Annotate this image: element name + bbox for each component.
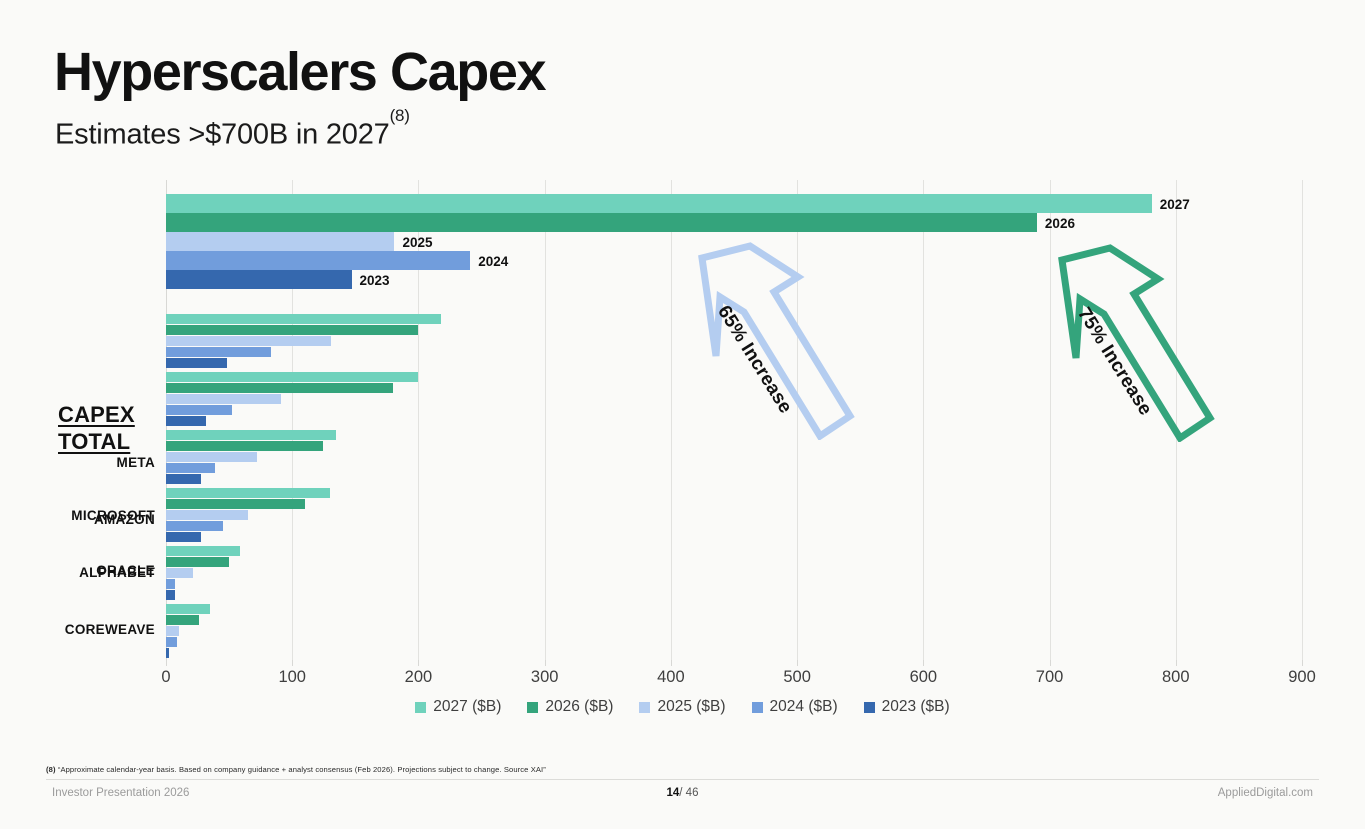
page-subtitle: Estimates >$700B in 2027(8) <box>55 118 410 152</box>
bar-slot <box>166 568 1302 578</box>
footnote-text: “Approximate calendar-year basis. Based … <box>58 765 546 774</box>
bar-alphabet-2026 <box>166 383 393 393</box>
x-tick-200 <box>418 660 419 666</box>
bar-amazon-2025 <box>166 336 331 346</box>
legend-swatch-icon <box>527 702 538 713</box>
bar-slot <box>166 604 1302 614</box>
x-tick-700 <box>1050 660 1051 666</box>
bar-oracle-2023 <box>166 590 175 600</box>
category-label-oracle: ORACLE <box>0 563 155 578</box>
footer-website: AppliedDigital.com <box>1218 787 1313 799</box>
x-tick-900 <box>1302 660 1303 666</box>
bar-slot <box>166 463 1302 473</box>
bar-oracle-2024 <box>166 579 175 589</box>
legend-item-2027[interactable]: 2027 ($B) <box>415 698 501 716</box>
bar-oracle-2027 <box>166 546 240 556</box>
bar-amazon-2023 <box>166 358 227 368</box>
x-axis: 0100200300400500600700800900 <box>166 660 1302 690</box>
capex-total-line2: TOTAL <box>58 429 135 456</box>
bar-slot <box>166 637 1302 647</box>
bar-amazon-2027 <box>166 314 441 324</box>
bar-slot <box>166 579 1302 589</box>
bar-coreweave-2025 <box>166 626 179 636</box>
x-tick-600 <box>923 660 924 666</box>
page-title: Hyperscalers Capex <box>54 44 545 101</box>
bar-slot <box>166 488 1302 498</box>
bar-slot <box>166 590 1302 600</box>
bar-slot <box>166 557 1302 567</box>
legend-item-2024[interactable]: 2024 ($B) <box>752 698 838 716</box>
bar-slot <box>166 358 1302 368</box>
bar-capex-total-2026 <box>166 213 1037 232</box>
bar-oracle-2025 <box>166 568 193 578</box>
legend-item-2023[interactable]: 2023 ($B) <box>864 698 950 716</box>
bar-microsoft-2023 <box>166 532 201 542</box>
plot-area: 20272026202520242023 <box>166 180 1302 660</box>
bar-slot <box>166 474 1302 484</box>
x-tick-label-800: 800 <box>1162 668 1190 687</box>
bar-microsoft-2027 <box>166 488 330 498</box>
gridline-900 <box>1302 180 1303 660</box>
bar-slot <box>166 270 1302 289</box>
capex-total-label: CAPEX TOTAL <box>58 402 135 456</box>
x-tick-800 <box>1176 660 1177 666</box>
bar-group-oracle <box>166 546 1302 601</box>
bar-slot <box>166 441 1302 451</box>
x-tick-300 <box>545 660 546 666</box>
bar-meta-2025 <box>166 452 257 462</box>
bar-amazon-2024 <box>166 347 271 357</box>
x-tick-label-900: 900 <box>1288 668 1316 687</box>
bar-slot <box>166 626 1302 636</box>
bar-slot <box>166 251 1302 270</box>
total-label-2027: 2027 <box>1160 197 1190 212</box>
bar-amazon-2026 <box>166 325 418 335</box>
bar-coreweave-2024 <box>166 637 177 647</box>
legend-item-2026[interactable]: 2026 ($B) <box>527 698 613 716</box>
slide-footer: Investor Presentation 2026 14/ 46 Applie… <box>0 787 1365 809</box>
bar-meta-2024 <box>166 463 215 473</box>
bar-microsoft-2025 <box>166 510 248 520</box>
bar-alphabet-2027 <box>166 372 418 382</box>
bar-capex-total-2024 <box>166 251 470 270</box>
x-tick-400 <box>671 660 672 666</box>
bar-alphabet-2024 <box>166 405 232 415</box>
bar-microsoft-2024 <box>166 521 223 531</box>
category-label-coreweave: COREWEAVE <box>0 622 155 637</box>
bar-group-capex-total <box>166 194 1302 289</box>
legend-label: 2024 ($B) <box>770 698 838 716</box>
bar-meta-2027 <box>166 430 336 440</box>
legend-swatch-icon <box>752 702 763 713</box>
x-tick-label-500: 500 <box>783 668 811 687</box>
footnote-marker: (8) <box>390 106 410 125</box>
total-label-2026: 2026 <box>1045 216 1075 231</box>
bar-alphabet-2025 <box>166 394 281 404</box>
bar-alphabet-2023 <box>166 416 206 426</box>
footer-divider <box>46 779 1319 780</box>
total-label-2023: 2023 <box>360 273 390 288</box>
x-tick-100 <box>292 660 293 666</box>
bar-slot <box>166 416 1302 426</box>
bar-capex-total-2027 <box>166 194 1152 213</box>
footer-page-number: 14 <box>667 787 680 799</box>
legend-label: 2026 ($B) <box>545 698 613 716</box>
bar-slot <box>166 430 1302 440</box>
x-tick-0 <box>166 660 167 666</box>
x-tick-label-0: 0 <box>161 668 170 687</box>
bar-slot <box>166 452 1302 462</box>
total-label-2024: 2024 <box>478 254 508 269</box>
bar-slot <box>166 213 1302 232</box>
capex-bar-chart: CAPEX TOTAL AMAZON ALPHABET META MICROSO… <box>0 180 1365 680</box>
x-tick-label-100: 100 <box>278 668 306 687</box>
footnote: (8) “Approximate calendar-year basis. Ba… <box>46 765 546 774</box>
bar-group-coreweave <box>166 604 1302 659</box>
bar-slot <box>166 546 1302 556</box>
bar-meta-2026 <box>166 441 323 451</box>
page-subtitle-text: Estimates >$700B in 2027 <box>55 119 390 151</box>
bar-slot <box>166 648 1302 658</box>
bar-meta-2023 <box>166 474 201 484</box>
bar-group-microsoft <box>166 488 1302 543</box>
x-tick-label-600: 600 <box>910 668 938 687</box>
legend-label: 2027 ($B) <box>433 698 501 716</box>
bar-slot <box>166 194 1302 213</box>
bar-slot <box>166 521 1302 531</box>
bar-capex-total-2025 <box>166 232 394 251</box>
category-label-meta: META <box>0 455 155 470</box>
bar-slot <box>166 499 1302 509</box>
total-label-2025: 2025 <box>402 235 432 250</box>
legend-swatch-icon <box>639 702 650 713</box>
bar-capex-total-2023 <box>166 270 352 289</box>
bar-slot <box>166 532 1302 542</box>
legend-swatch-icon <box>415 702 426 713</box>
footer-page-indicator: 14/ 46 <box>0 787 1365 799</box>
x-tick-label-300: 300 <box>531 668 559 687</box>
x-tick-label-200: 200 <box>405 668 433 687</box>
x-tick-label-700: 700 <box>1036 668 1064 687</box>
bar-oracle-2026 <box>166 557 229 567</box>
bar-microsoft-2026 <box>166 499 305 509</box>
legend-item-2025[interactable]: 2025 ($B) <box>639 698 725 716</box>
footnote-number: (8) <box>46 765 56 774</box>
bar-coreweave-2026 <box>166 615 199 625</box>
footer-page-total: / 46 <box>679 787 698 799</box>
legend-label: 2025 ($B) <box>657 698 725 716</box>
x-tick-500 <box>797 660 798 666</box>
bar-coreweave-2023 <box>166 648 169 658</box>
bar-group-meta <box>166 430 1302 485</box>
bar-slot <box>166 510 1302 520</box>
chart-legend: 2027 ($B)2026 ($B)2025 ($B)2024 ($B)2023… <box>0 698 1365 716</box>
legend-swatch-icon <box>864 702 875 713</box>
x-tick-label-400: 400 <box>657 668 685 687</box>
bar-slot <box>166 615 1302 625</box>
bar-coreweave-2027 <box>166 604 210 614</box>
legend-label: 2023 ($B) <box>882 698 950 716</box>
category-label-microsoft: MICROSOFT <box>0 508 155 523</box>
bar-slot <box>166 232 1302 251</box>
capex-total-line1: CAPEX <box>58 402 135 429</box>
